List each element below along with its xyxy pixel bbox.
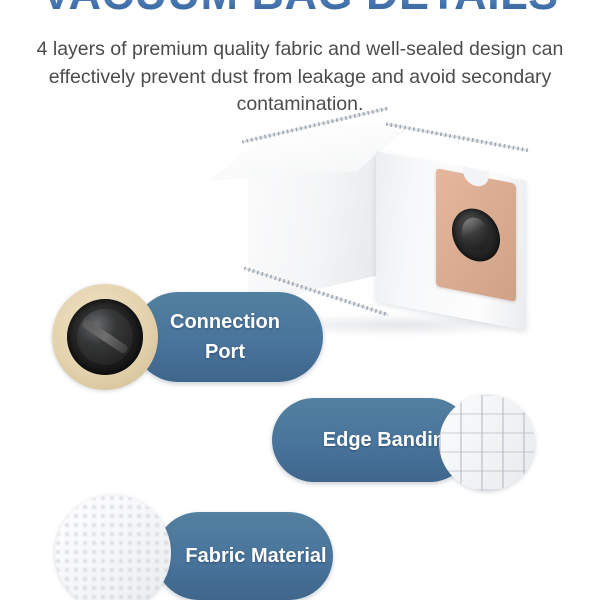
bag-cardboard-collar	[436, 168, 516, 302]
feature-label-fabric-material: Fabric Material	[185, 541, 326, 571]
fabric-texture-icon	[55, 495, 171, 600]
feature-pill-fabric-material[interactable]: Fabric Material	[155, 512, 333, 600]
page-title: VACUUM BAG DETAILS	[0, 0, 600, 17]
feature-label-line2: Port	[155, 337, 295, 367]
port-closeup-icon	[52, 284, 158, 390]
edge-banding-texture-icon	[439, 395, 535, 491]
infographic-page: VACUUM BAG DETAILS 4 layers of premium q…	[0, 0, 600, 600]
feature-label-edge-banding: Edge Banding	[323, 425, 457, 455]
feature-pill-connection-port[interactable]: Connection Port	[133, 292, 323, 382]
feature-label-connection-port: Connection Port	[155, 307, 295, 367]
page-subtitle: 4 layers of premium quality fabric and w…	[22, 36, 578, 119]
bag-seam-top-right	[386, 122, 529, 152]
feature-label-line1: Connection	[155, 307, 295, 337]
